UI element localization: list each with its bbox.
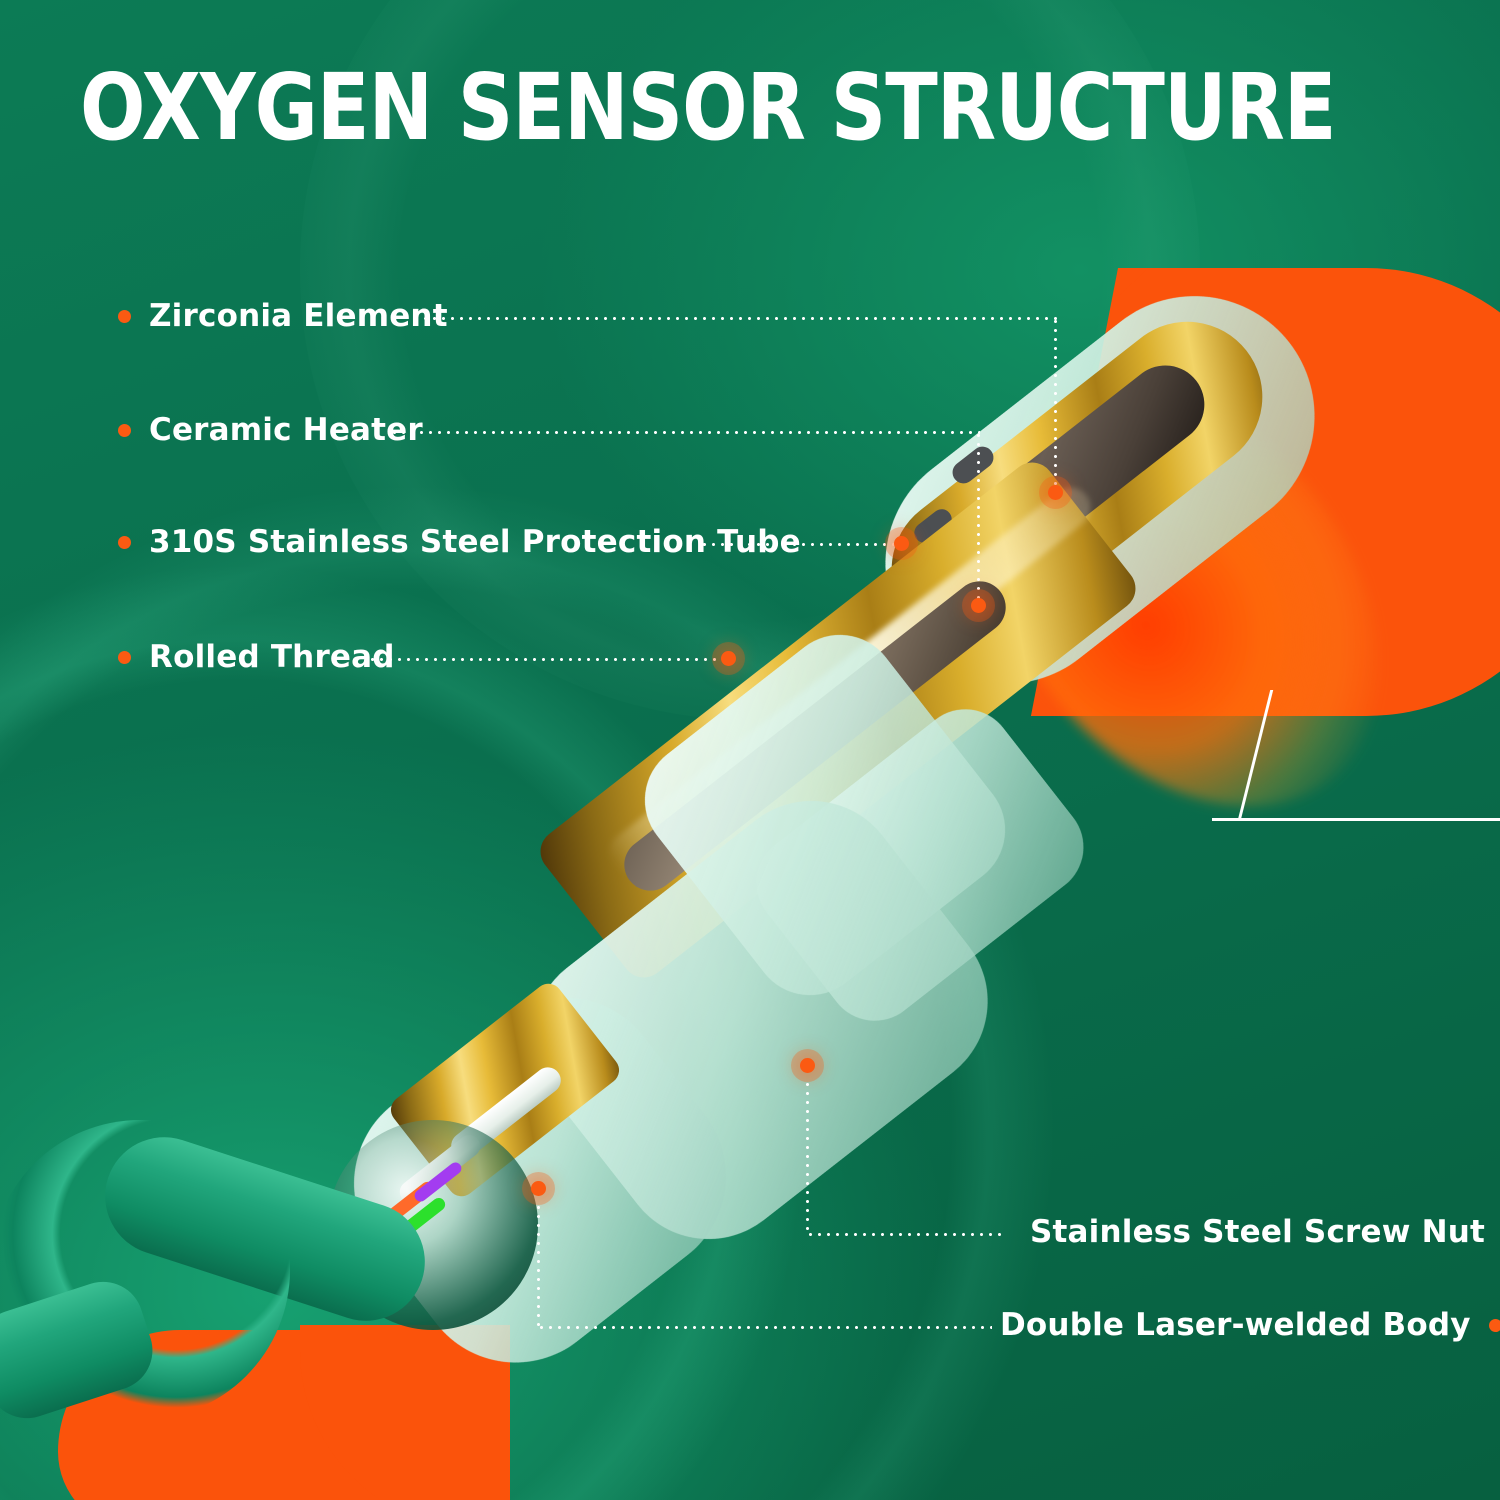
leader-line-laser-body [537,1326,992,1329]
bullet-icon [1489,1319,1500,1332]
marker-double-laser-welded-body [531,1181,546,1196]
bullet-icon [118,651,131,664]
marker-zirconia-element [1048,485,1063,500]
bullet-icon [118,536,131,549]
leader-line-zirconia-element [412,317,1057,320]
leader-line-laser-body-drop [537,1203,540,1328]
bullet-icon [118,424,131,437]
callout-label: Zirconia Element [149,298,448,334]
callout-label: Double Laser-welded Body [1000,1307,1471,1343]
callout-label: Ceramic Heater [149,412,423,448]
leader-line-ceramic-heater-drop [977,431,980,606]
page-title: OXYGEN SENSOR STRUCTURE [80,54,1336,161]
callout-label: 310S Stainless Steel Protection Tube [149,524,801,560]
callout-protection-tube[interactable]: 310S Stainless Steel Protection Tube [118,524,801,560]
decor-bracket-horizontal [1212,818,1500,821]
leader-line-rolled-thread [368,658,728,661]
callout-ceramic-heater[interactable]: Ceramic Heater [118,412,423,448]
marker-protection-tube [894,536,909,551]
callout-rolled-thread[interactable]: Rolled Thread [118,639,395,675]
callout-zirconia-element[interactable]: Zirconia Element [118,298,448,334]
marker-rolled-thread [721,651,736,666]
callout-stainless-steel-screw-nut[interactable]: Stainless Steel Screw Nut [1030,1214,1500,1250]
poster-canvas: OXYGEN SENSOR STRUCTURE Zirconia Element… [0,0,1500,1500]
callout-double-laser-welded-body[interactable]: Double Laser-welded Body [1000,1307,1500,1343]
leader-line-screw-nut [806,1233,1002,1236]
marker-ceramic-heater [971,598,986,613]
leader-line-ceramic-heater [390,431,980,434]
marker-stainless-steel-screw-nut [800,1058,815,1073]
leader-line-zirconia-element-drop [1054,317,1057,492]
callout-label: Rolled Thread [149,639,395,675]
oxygen-sensor-illustration [250,240,1330,1360]
leader-line-screw-nut-drop [806,1080,809,1235]
callout-label: Stainless Steel Screw Nut [1030,1214,1485,1250]
bullet-icon [118,310,131,323]
